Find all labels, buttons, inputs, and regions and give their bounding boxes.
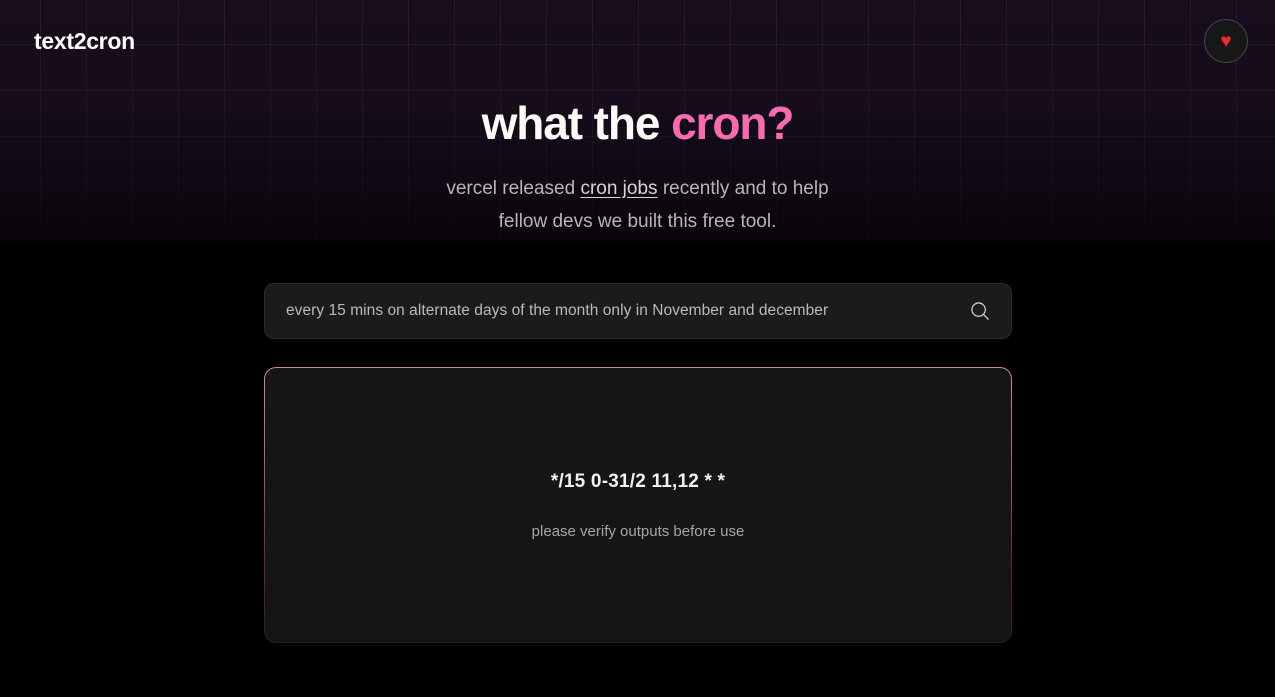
search-bar[interactable]	[264, 283, 1012, 339]
page-title: what the cron?	[0, 100, 1275, 146]
search-input[interactable]	[286, 302, 967, 320]
headline-primary: what the	[482, 97, 671, 149]
verify-disclaimer: please verify outputs before use	[532, 524, 745, 539]
headline-accent: cron?	[671, 97, 793, 149]
subtitle-text-before: vercel released	[446, 178, 580, 199]
app-logo[interactable]: text2cron	[34, 30, 135, 53]
heart-button[interactable]: ♥	[1204, 19, 1248, 63]
cron-jobs-link[interactable]: cron jobs	[580, 178, 657, 199]
result-panel: */15 0-31/2 11,12 * * please verify outp…	[264, 367, 1012, 643]
subtitle-line-two: fellow devs we built this free tool.	[499, 211, 777, 232]
search-icon[interactable]	[967, 298, 993, 324]
heart-icon: ♥	[1220, 32, 1231, 51]
page-subtitle: vercel released cron jobs recently and t…	[0, 172, 1275, 238]
cron-expression-output[interactable]: */15 0-31/2 11,12 * *	[551, 472, 725, 491]
app-header: text2cron ♥	[0, 0, 1275, 82]
subtitle-text-after: recently and to help	[658, 178, 829, 199]
